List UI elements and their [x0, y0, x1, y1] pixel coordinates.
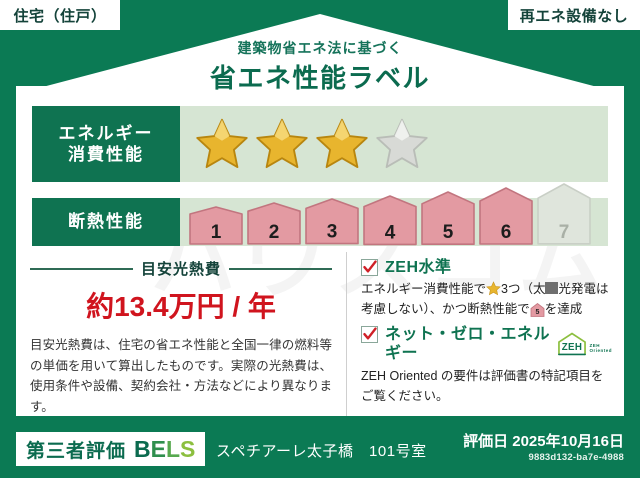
insulation-house-filled: 6: [478, 186, 534, 246]
zeh-level-title: ZEH水準: [385, 258, 452, 277]
energy-consumption-row: エネルギー 消費性能: [32, 106, 608, 182]
net-zero-energy-item: ネット・ゼロ・エネルギー ZEH ZEH Oriented: [361, 325, 612, 363]
zeh-oriented-sublabel: ZEH Oriented: [589, 343, 612, 356]
bels-wordmark: BELS: [134, 436, 195, 463]
insulation-performance-label: 断熱性能: [32, 198, 180, 246]
net-zero-energy-title-wrap: ネット・ゼロ・エネルギー ZEH ZEH Oriented: [385, 325, 612, 363]
star-filled-icon: [254, 116, 310, 172]
evaluation-date: 評価日 2025年10月16日: [463, 430, 624, 451]
energy-cost-panel: 目安光熱費 約13.4万円 / 年 目安光熱費は、住宅の省エネ性能と全国一律の燃…: [16, 252, 346, 416]
bels-logo: 第三者評価 BELS: [16, 432, 205, 466]
zeh-body-part4: を達成: [545, 302, 583, 316]
svg-text:1: 1: [211, 222, 222, 243]
energy-performance-label: 住宅（住戸） 再エネ設備なし 建築物省エネ法に基づく 省エネ性能ラベル ハウスコ…: [0, 0, 640, 478]
inline-star-icon: [486, 281, 501, 296]
energy-label-line2: 消費性能: [68, 144, 144, 165]
svg-text:4: 4: [385, 222, 396, 243]
star-filled-icon: [194, 116, 250, 172]
energy-cost-heading: 目安光熱費: [30, 258, 332, 279]
checkbox-checked-icon: [361, 259, 378, 276]
lower-section: 目安光熱費 約13.4万円 / 年 目安光熱費は、住宅の省エネ性能と全国一律の燃…: [16, 252, 624, 416]
label-subtitle: 建築物省エネ法に基づく: [0, 38, 640, 58]
svg-text:3: 3: [327, 222, 338, 243]
zeh-house-icon: ZEH: [557, 332, 587, 356]
insulation-house-filled: 3: [304, 197, 360, 246]
energy-cost-note: 目安光熱費は、住宅の省エネ性能と全国一律の燃料等の単価を用いて算出したものです。…: [30, 335, 332, 418]
heading-rule-right: [229, 268, 332, 270]
zeh-oriented-line2: Oriented: [589, 348, 612, 353]
net-zero-energy-title: ネット・ゼロ・エネルギー: [385, 325, 553, 363]
star-empty-icon: [374, 116, 430, 172]
building-name: スペチアーレ太子橋 101号室: [216, 440, 427, 461]
inline-insulation-house-icon: 5: [530, 303, 545, 317]
insulation-house-filled: 2: [246, 201, 302, 246]
insulation-house-filled: 4: [362, 194, 418, 246]
svg-text:2: 2: [269, 222, 280, 243]
energy-cost-value: 約13.4万円 / 年: [30, 285, 332, 325]
evaluation-id: 9883d132-ba7e-4988: [528, 452, 624, 463]
energy-label-line1: エネルギー: [59, 123, 154, 144]
bels-third-party-text: 第三者評価: [26, 436, 126, 463]
insulation-performance-row: 断熱性能 1234567: [32, 198, 608, 246]
energy-consumption-label: エネルギー 消費性能: [32, 106, 180, 182]
redacted-character: [545, 282, 558, 294]
zeh-body-part2: 3つ（太: [501, 282, 545, 296]
zeh-body-part1: エネルギー消費性能で: [361, 282, 486, 296]
star-rating: [180, 116, 608, 172]
zeh-logo-badge: ZEH ZEH Oriented: [557, 332, 612, 356]
heading-rule-left: [30, 268, 133, 270]
tag-renewable-equipment: 再エネ設備なし: [508, 0, 640, 30]
zeh-level-body: エネルギー消費性能で3つ（太光発電は考慮しない）、かつ断熱性能で5を達成: [361, 279, 612, 319]
tag-dwelling-type: 住宅（住戸）: [0, 0, 120, 30]
net-zero-energy-body: ZEH Oriented の要件は評価書の特記項目をご覧ください。: [361, 366, 612, 406]
svg-text:6: 6: [501, 222, 512, 243]
checkbox-checked-icon-2: [361, 326, 378, 343]
insulation-level-scale: 1234567: [180, 198, 608, 246]
svg-text:5: 5: [535, 309, 539, 316]
insulation-house-empty: 7: [536, 182, 592, 246]
svg-text:ZEH: ZEH: [562, 342, 583, 353]
bels-letter-l: L: [166, 436, 180, 462]
star-filled-icon: [314, 116, 370, 172]
bels-letter-s: S: [180, 436, 195, 462]
label-footer: 第三者評価 BELS スペチアーレ太子橋 101号室 評価日 2025年10月1…: [0, 422, 640, 478]
svg-text:7: 7: [559, 222, 570, 243]
bels-letter-e: E: [151, 436, 166, 462]
label-title: 省エネ性能ラベル: [0, 58, 640, 95]
zeh-panel: ZEH水準 エネルギー消費性能で3つ（太光発電は考慮しない）、かつ断熱性能で5を…: [346, 252, 624, 416]
insulation-house-filled: 1: [188, 205, 244, 246]
bels-letter-b: B: [134, 436, 151, 462]
zeh-level-item: ZEH水準: [361, 258, 612, 277]
svg-text:5: 5: [443, 222, 454, 243]
insulation-house-filled: 5: [420, 190, 476, 246]
energy-cost-heading-text: 目安光熱費: [141, 258, 221, 279]
